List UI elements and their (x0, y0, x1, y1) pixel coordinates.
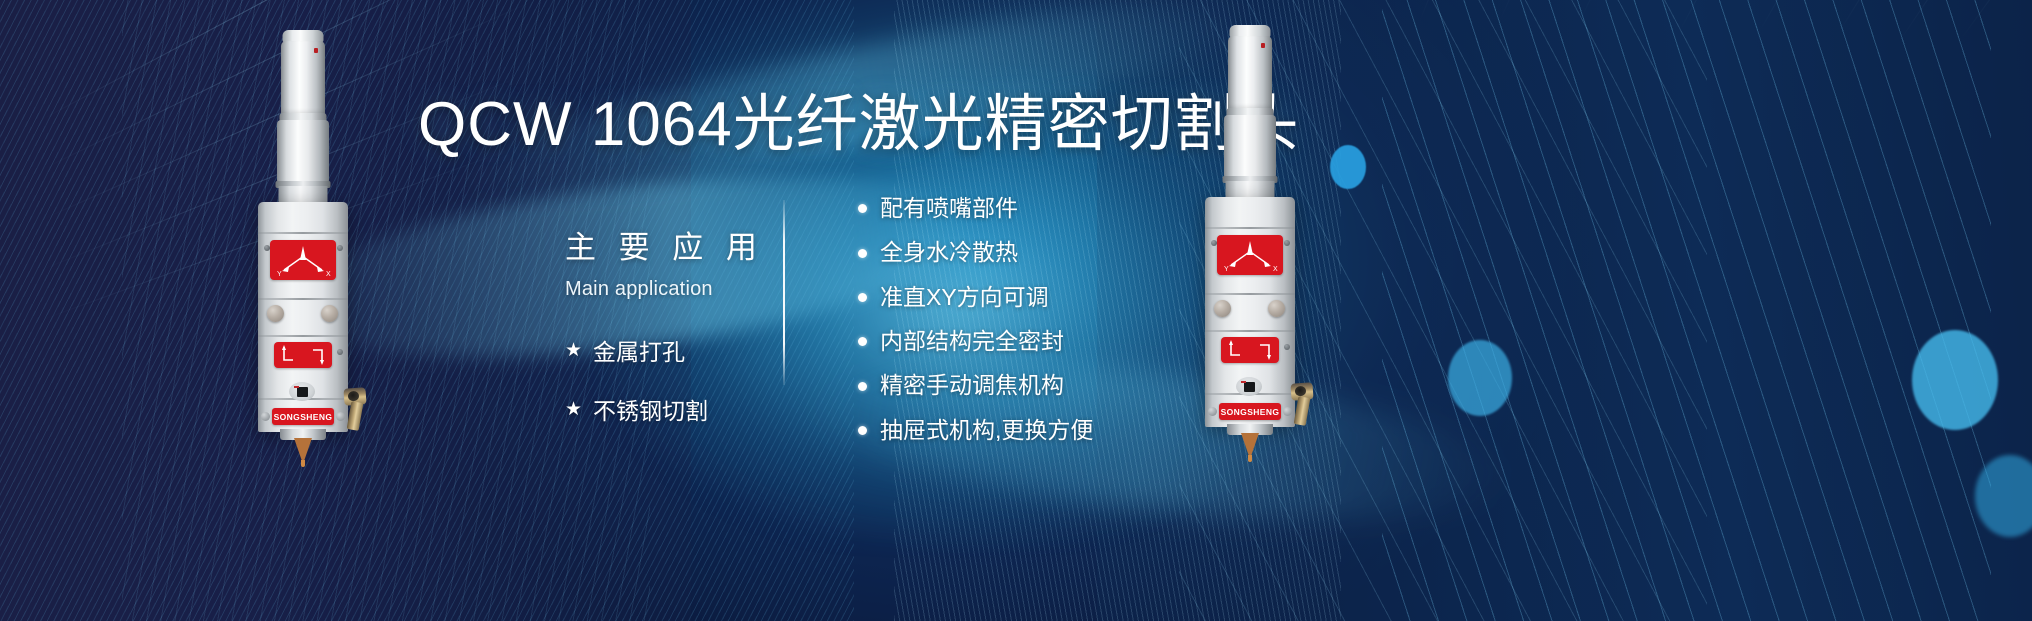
banner-title: QCW 1064光纤激光精密切割头 (418, 92, 1300, 157)
viewport-window (289, 382, 315, 401)
upper-tube (281, 41, 325, 115)
laser-cutting-head-right: Y X SONGSHENG (1175, 25, 1325, 440)
gas-fitting-port (348, 391, 360, 402)
adjust-knob-left (267, 305, 284, 322)
corner-arrows-icon (1221, 337, 1279, 363)
svg-text:Y: Y (1224, 266, 1229, 273)
list-item-label: 不锈钢切割 (593, 392, 708, 426)
xy-alignment-label: Y X (270, 240, 336, 280)
adjust-knob-right (321, 305, 338, 322)
mid-tube (277, 120, 329, 184)
viewport-glass (1244, 382, 1255, 392)
nozzle-tip (1248, 455, 1252, 462)
viewport-red-mark (294, 386, 299, 388)
screw-icon (1208, 407, 1217, 416)
feature-label: 抽屉式机构,更换方便 (880, 414, 1093, 447)
list-item: 准直XY方向可调 (858, 281, 1093, 314)
viewport-window (1236, 377, 1262, 396)
head-body: Y X SONGSHENG (1205, 197, 1295, 427)
head-body: Y X SONGSHENG (258, 202, 348, 432)
corner-arrows-label (1221, 337, 1279, 363)
adjust-knob-left (1214, 300, 1231, 317)
red-indicator-dot (1261, 43, 1265, 48)
bullet-dot-icon (858, 293, 867, 302)
body-seam (258, 298, 348, 300)
main-application-heading-cn: 主 要 应 用 (565, 222, 770, 267)
bullet-dot-icon (858, 426, 867, 435)
product-banner: QCW 1064光纤激光精密切割头 主 要 应 用 Main applicati… (0, 0, 2032, 621)
body-seam (258, 335, 348, 337)
bullet-dot-icon (858, 337, 867, 346)
screw-icon (337, 245, 343, 251)
gas-fitting-port (1295, 386, 1307, 397)
screw-icon (1284, 344, 1290, 350)
gas-fitting-stem (1294, 396, 1311, 426)
laser-cutting-head-left: Y X SONGSHENG (228, 30, 378, 445)
red-indicator-dot (314, 48, 318, 53)
adjust-knob-right (1268, 300, 1285, 317)
svg-text:Y: Y (277, 271, 282, 278)
main-application-column: 主 要 应 用 Main application ★ 金属打孔 ★ 不锈钢切割 (565, 222, 770, 451)
svg-text:X: X (1273, 266, 1278, 273)
brand-label: SONGSHENG (272, 408, 334, 425)
xy-alignment-icon: Y X (1217, 235, 1283, 275)
nozzle-tip (301, 460, 305, 467)
list-item: 抽屉式机构,更换方便 (858, 414, 1093, 447)
mid-tube (1224, 115, 1276, 179)
xy-alignment-label: Y X (1217, 235, 1283, 275)
feature-label: 准直XY方向可调 (880, 281, 1049, 314)
list-item: 配有喷嘴部件 (858, 192, 1093, 225)
list-item: ★ 金属打孔 (565, 333, 770, 367)
gas-fitting-stem (347, 401, 364, 431)
body-seam (1205, 227, 1295, 229)
viewport-red-mark (1241, 381, 1246, 383)
screw-icon (1283, 407, 1292, 416)
corner-arrows-icon (274, 342, 332, 368)
bullet-dot-icon (858, 249, 867, 258)
bullet-dot-icon (858, 382, 867, 391)
xy-alignment-icon: Y X (270, 240, 336, 280)
svg-text:X: X (326, 271, 331, 278)
list-item: 精密手动调焦机构 (858, 369, 1093, 402)
body-seam (1205, 293, 1295, 295)
star-icon: ★ (565, 400, 582, 419)
feature-label: 全身水冷散热 (880, 236, 1018, 269)
list-item-label: 金属打孔 (593, 333, 685, 367)
body-seam (1205, 330, 1295, 332)
list-item: 全身水冷散热 (858, 236, 1093, 269)
main-application-heading-en: Main application (565, 278, 770, 301)
body-seam (258, 232, 348, 234)
feature-label: 配有喷嘴部件 (880, 192, 1018, 225)
main-application-list: ★ 金属打孔 ★ 不锈钢切割 (565, 333, 770, 426)
list-item: ★ 不锈钢切割 (565, 392, 770, 426)
viewport-glass (297, 387, 308, 397)
brand-label: SONGSHENG (1219, 403, 1281, 420)
list-item: 内部结构完全密封 (858, 325, 1093, 358)
column-divider (783, 200, 785, 385)
feature-label: 精密手动调焦机构 (880, 369, 1064, 402)
screw-icon (337, 349, 343, 355)
feature-label: 内部结构完全密封 (880, 325, 1064, 358)
star-icon: ★ (565, 341, 582, 360)
screw-icon (1284, 240, 1290, 246)
upper-tube (1228, 36, 1272, 110)
bullet-dot-icon (858, 204, 867, 213)
screw-icon (261, 412, 270, 421)
corner-arrows-label (274, 342, 332, 368)
screw-icon (336, 412, 345, 421)
feature-list-column: 配有喷嘴部件 全身水冷散热 准直XY方向可调 内部结构完全密封 精密手动调焦机构… (858, 192, 1093, 458)
